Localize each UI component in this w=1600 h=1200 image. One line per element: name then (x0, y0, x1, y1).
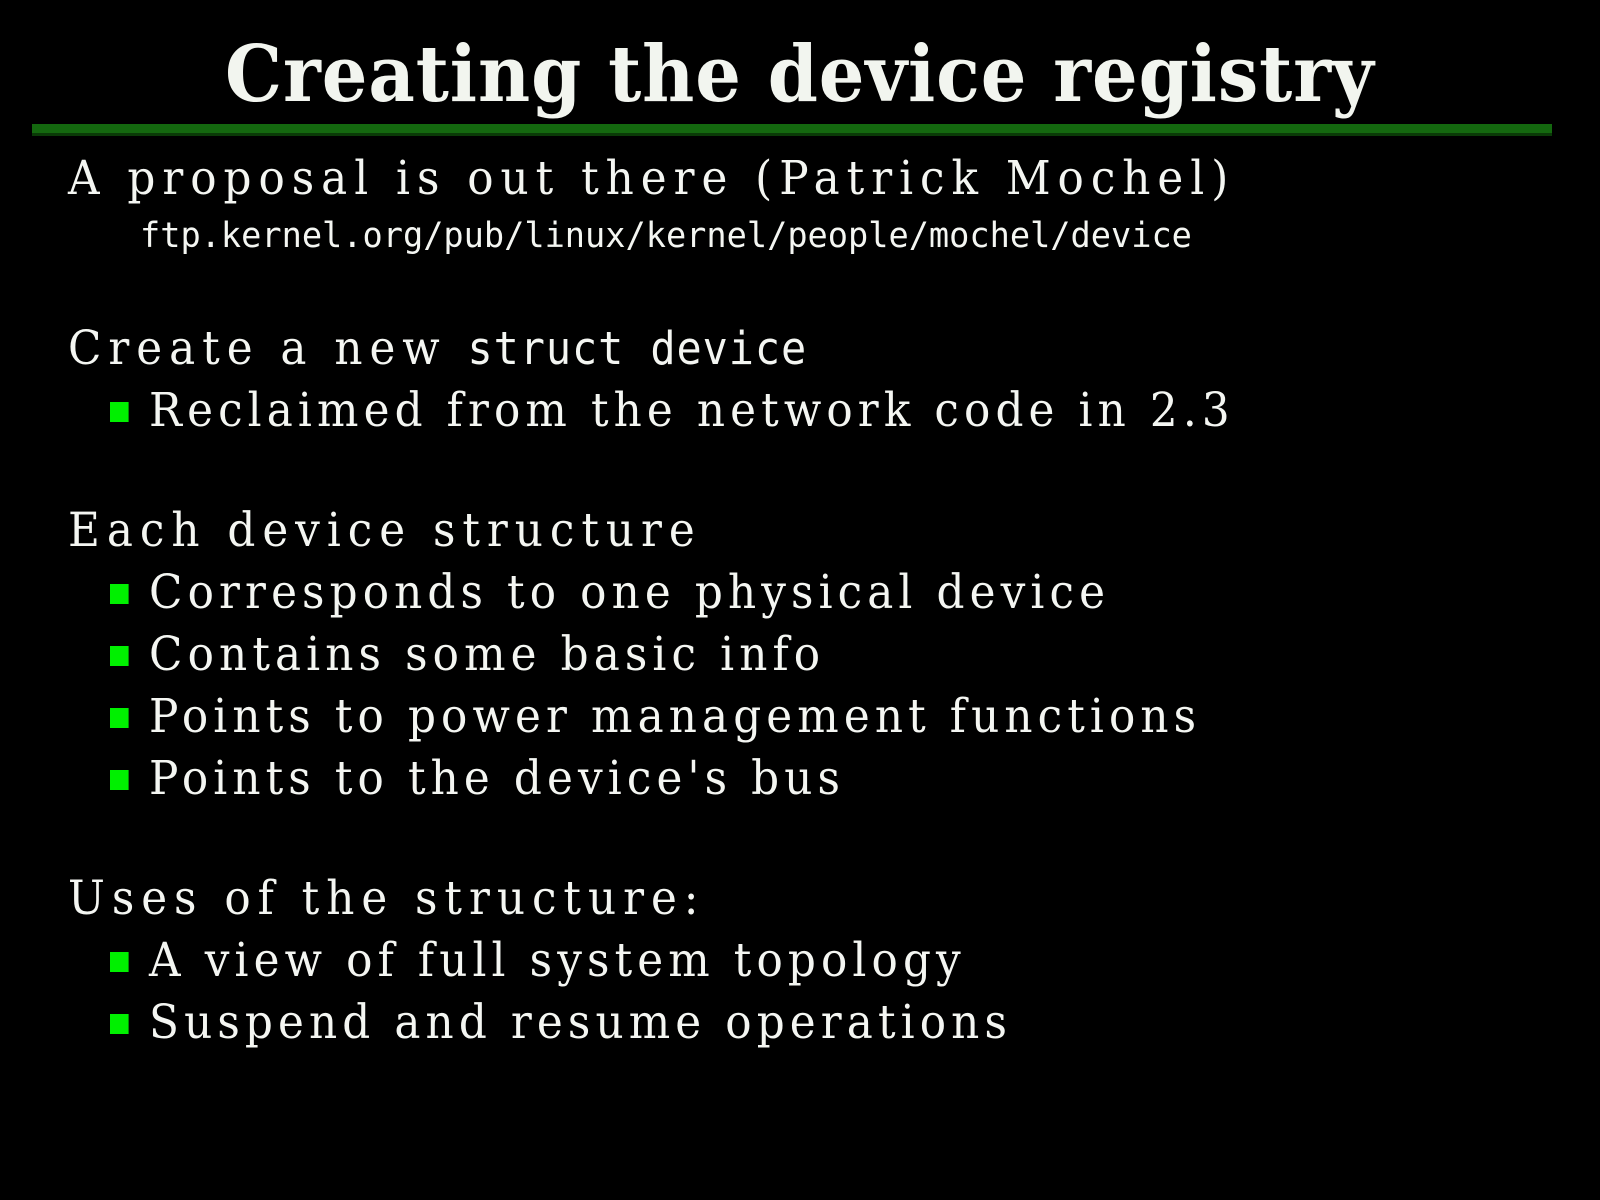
square-bullet-icon (110, 584, 129, 604)
list-item-label: Corresponds to one physical device (149, 565, 1110, 620)
section-heading-uses-of-structure: Uses of the structure: (68, 868, 1493, 930)
list-item: A view of full system topology (110, 930, 1496, 992)
proposal-url-text: ftp.kernel.org/pub/linux/kernel/people/m… (140, 210, 1542, 262)
section-gap (0, 810, 1600, 868)
square-bullet-icon (110, 646, 129, 666)
list-item: Suspend and resume operations (110, 992, 1496, 1054)
list-item-label: Points to the device's bus (149, 751, 845, 806)
section-gap (0, 442, 1600, 500)
list-item: Points to the device's bus (110, 748, 1496, 810)
square-bullet-icon (110, 402, 129, 422)
title-divider-rule (32, 124, 1552, 136)
list-item: Contains some basic info (110, 624, 1496, 686)
list-item: Reclaimed from the network code in 2.3 (110, 380, 1496, 442)
slide-canvas: Creating the device registry A proposal … (0, 0, 1600, 1200)
section-gap (0, 262, 1600, 318)
slide-title-block: Creating the device registry (0, 34, 1600, 116)
section-heading-create-struct: Create a new struct device (68, 318, 1493, 380)
slide-body: A proposal is out there (Patrick Mochel)… (0, 148, 1600, 1054)
list-item-label: Reclaimed from the network code in 2.3 (149, 383, 1235, 438)
list-item-label: Points to power management functions (149, 689, 1201, 744)
list-item: Corresponds to one physical device (110, 562, 1496, 624)
square-bullet-icon (110, 952, 129, 972)
list-item-label: Contains some basic info (149, 627, 825, 682)
create-struct-prefix-text: Create a new (68, 321, 468, 376)
square-bullet-icon (110, 708, 129, 728)
square-bullet-icon (110, 1014, 129, 1034)
list-item-label: A view of full system topology (149, 933, 966, 988)
page-title: Creating the device registry (225, 34, 1375, 116)
section-heading-proposal: A proposal is out there (Patrick Mochel) (68, 148, 1493, 210)
struct-device-code-text: struct device (468, 322, 808, 375)
section-heading-each-device-structure: Each device structure (68, 500, 1493, 562)
list-item-label: Suspend and resume operations (149, 995, 1012, 1050)
list-item: Points to power management functions (110, 686, 1496, 748)
square-bullet-icon (110, 770, 129, 790)
